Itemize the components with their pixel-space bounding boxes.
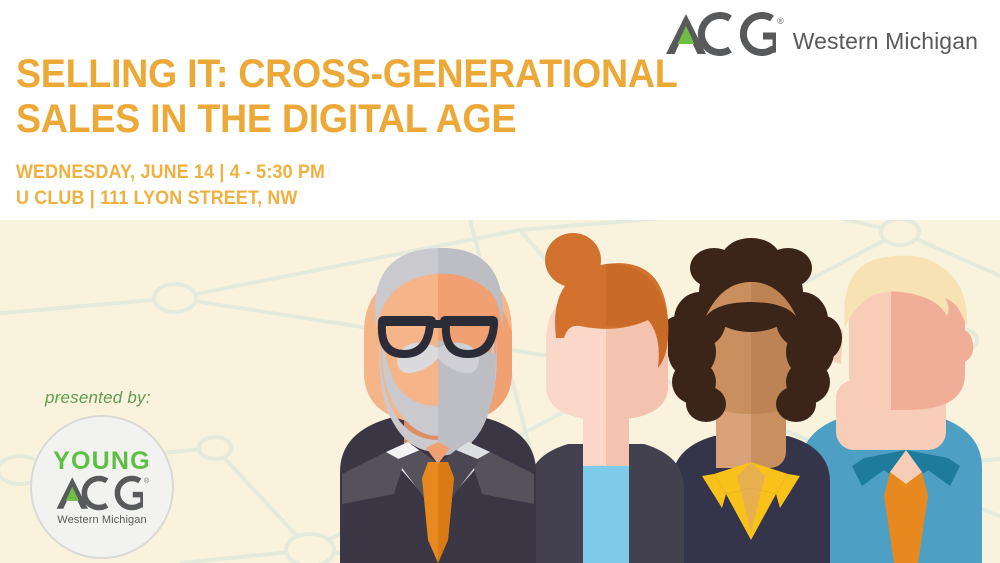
header-band: ® Western Michigan SELLING IT: CROSS-GEN… xyxy=(0,0,1000,220)
figure-senior-man xyxy=(340,248,536,563)
badge-acg-wordmark-icon: ® xyxy=(55,475,149,511)
acg-wordmark-icon xyxy=(664,12,776,56)
artwork-band: presented by: YOUNG ® Western Michigan xyxy=(0,220,1000,563)
figure-bun-woman xyxy=(528,233,684,563)
figure-curly-woman xyxy=(660,238,842,563)
event-details: WEDNESDAY, JUNE 14 | 4 - 5:30 PM U CLUB … xyxy=(16,160,345,212)
title-line-2: SALES IN THE DIGITAL AGE xyxy=(16,97,730,142)
badge-registered-mark: ® xyxy=(144,478,149,485)
presented-by-label: presented by: xyxy=(45,388,151,408)
event-datetime: WEDNESDAY, JUNE 14 | 4 - 5:30 PM xyxy=(16,160,325,186)
title-line-1: SELLING IT: CROSS-GENERATIONAL xyxy=(16,52,730,97)
event-poster: ® Western Michigan SELLING IT: CROSS-GEN… xyxy=(0,0,1000,563)
page-title: SELLING IT: CROSS-GENERATIONAL SALES IN … xyxy=(16,52,776,142)
badge-young-label: YOUNG xyxy=(53,449,151,474)
event-location: U CLUB | 111 LYON STREET, NW xyxy=(16,186,325,212)
acg-logo: ® Western Michigan xyxy=(664,12,978,56)
young-acg-badge: YOUNG ® Western Michigan xyxy=(30,415,174,559)
registered-mark: ® xyxy=(777,16,784,26)
acg-chapter-label: Western Michigan xyxy=(793,30,978,56)
badge-chapter-label: Western Michigan xyxy=(57,514,146,526)
